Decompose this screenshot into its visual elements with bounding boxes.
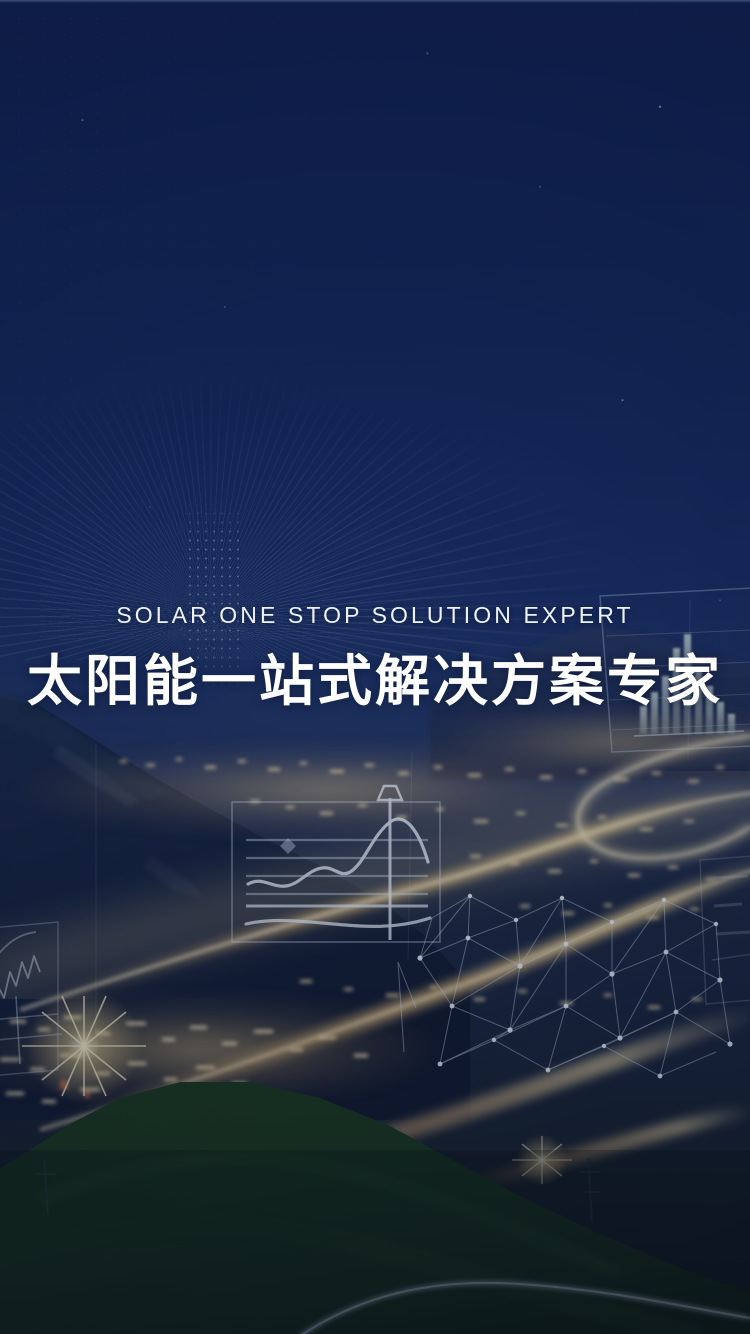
line-chart-panel-group: [0, 922, 62, 1076]
network-mesh-nodes: [417, 894, 732, 1079]
hero-copy-block: SOLAR ONE STOP SOLUTION EXPERT 太阳能一站式解决方…: [0, 600, 750, 712]
top-edge-highlight: [0, 0, 750, 3]
hero-headline: 太阳能一站式解决方案专家: [0, 650, 750, 712]
hero-subtitle: SOLAR ONE STOP SOLUTION EXPERT: [0, 600, 750, 630]
hero-banner: SOLAR ONE STOP SOLUTION EXPERT 太阳能一站式解决方…: [0, 0, 750, 1334]
network-mesh-group: [398, 896, 730, 1076]
